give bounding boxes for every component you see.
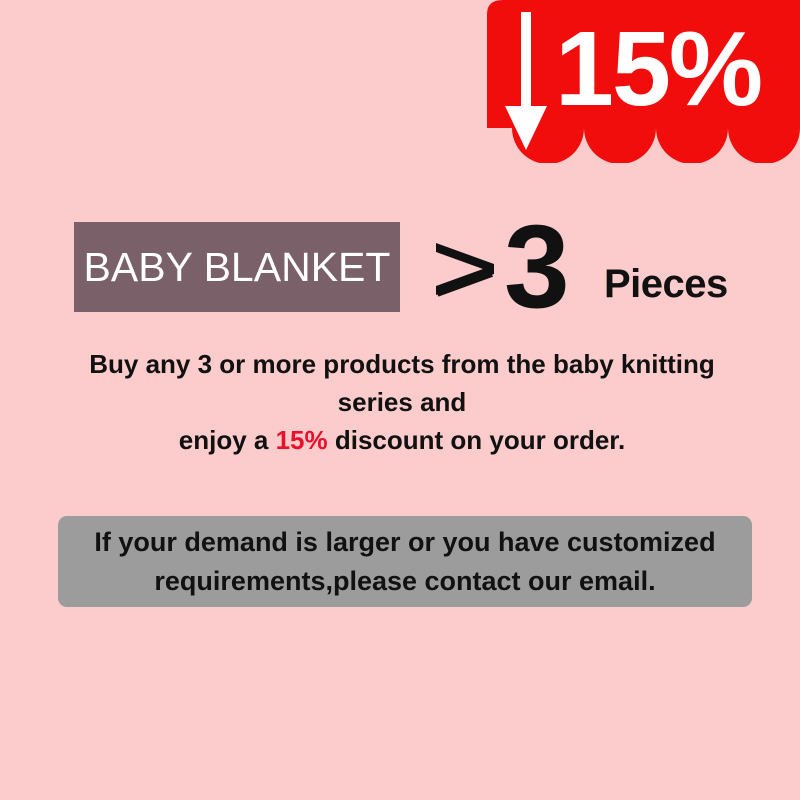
promo-description-line2-suffix: discount on your order.: [328, 425, 626, 455]
quantity-unit-label: Pieces: [604, 264, 728, 304]
contact-notice-box: If your demand is larger or you have cus…: [58, 516, 752, 607]
promo-description-line1: Buy any 3 or more products from the baby…: [89, 349, 715, 417]
category-tag-label: BABY BLANKET: [84, 244, 391, 291]
discount-percent-label: 15%: [555, 4, 795, 134]
quantity-requirement: 3 Pieces: [432, 218, 762, 318]
greater-than-or-equal-icon: [432, 240, 500, 300]
discount-badge: 15%: [487, 0, 800, 163]
quantity-number: 3: [504, 208, 567, 326]
down-arrow-icon: [501, 10, 551, 152]
category-tag: BABY BLANKET: [74, 222, 400, 312]
contact-notice-line1: If your demand is larger or you have cus…: [94, 527, 715, 557]
promo-description: Buy any 3 or more products from the baby…: [60, 345, 744, 459]
promo-description-line2-prefix: enjoy a: [179, 425, 276, 455]
contact-notice-text: If your demand is larger or you have cus…: [81, 523, 729, 601]
promo-banner: 15% BABY BLANKET 3 Pieces Buy any 3 or m…: [0, 0, 800, 800]
promo-description-highlight: 15%: [276, 425, 328, 455]
contact-notice-line2: requirements,please contact our email.: [154, 566, 655, 596]
